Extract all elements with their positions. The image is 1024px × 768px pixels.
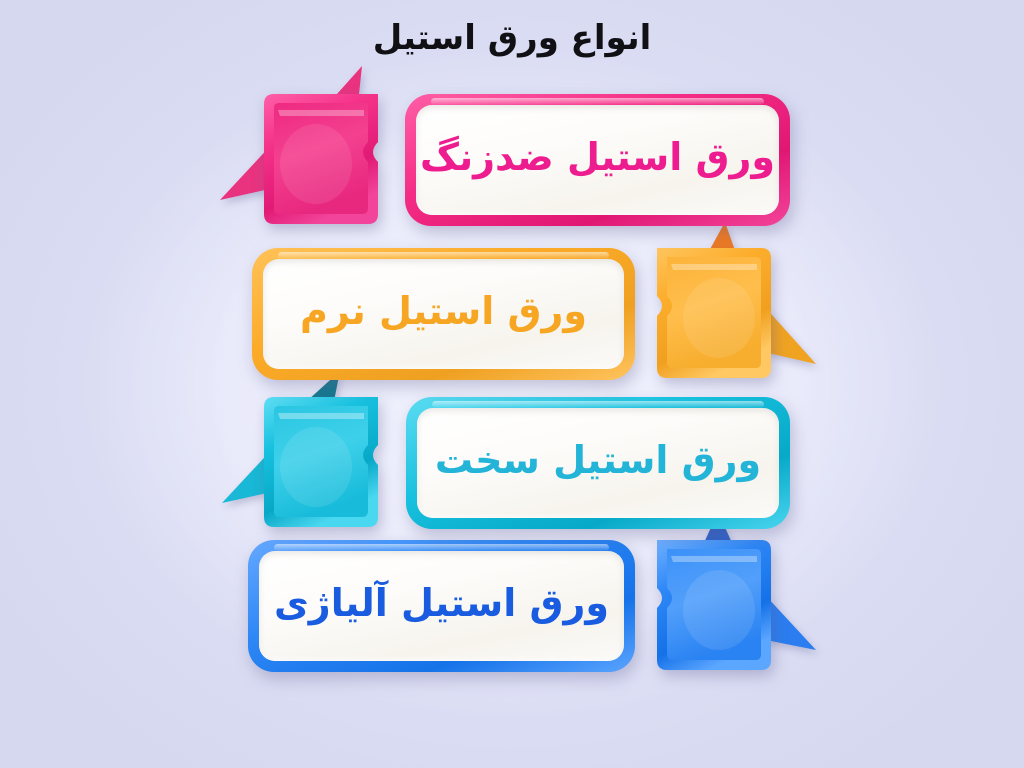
pink-square-badge[interactable] (254, 90, 392, 230)
card-hard[interactable]: ورق استیل سخت (406, 397, 790, 529)
blue-square-badge[interactable] (643, 536, 781, 676)
card-label-hard: ورق استیل سخت (435, 437, 761, 489)
infographic-canvas: انواع ورق استیل (0, 0, 1024, 768)
row-stainless: ورق استیل ضدزنگ (0, 82, 1024, 242)
page-title: انواع ورق استیل (0, 18, 1024, 58)
card-inner: ورق استیل سخت (417, 408, 779, 518)
card-inner: ورق استیل ضدزنگ (416, 105, 779, 215)
row-hard: ورق استیل سخت (0, 385, 1024, 545)
row-soft: ورق استیل نرم (0, 236, 1024, 396)
card-label-stainless: ورق استیل ضدزنگ (420, 134, 775, 186)
card-alloy[interactable]: ورق استیل آلیاژی (248, 540, 635, 672)
cyan-square-badge[interactable] (254, 393, 392, 533)
row-alloy: ورق استیل آلیاژی (0, 528, 1024, 688)
card-label-soft: ورق استیل نرم (300, 288, 587, 340)
card-label-alloy: ورق استیل آلیاژی (274, 580, 609, 632)
orange-square-badge[interactable] (643, 244, 781, 384)
card-inner: ورق استیل آلیاژی (259, 551, 624, 661)
card-soft[interactable]: ورق استیل نرم (252, 248, 635, 380)
card-stainless[interactable]: ورق استیل ضدزنگ (405, 94, 790, 226)
card-inner: ورق استیل نرم (263, 259, 624, 369)
